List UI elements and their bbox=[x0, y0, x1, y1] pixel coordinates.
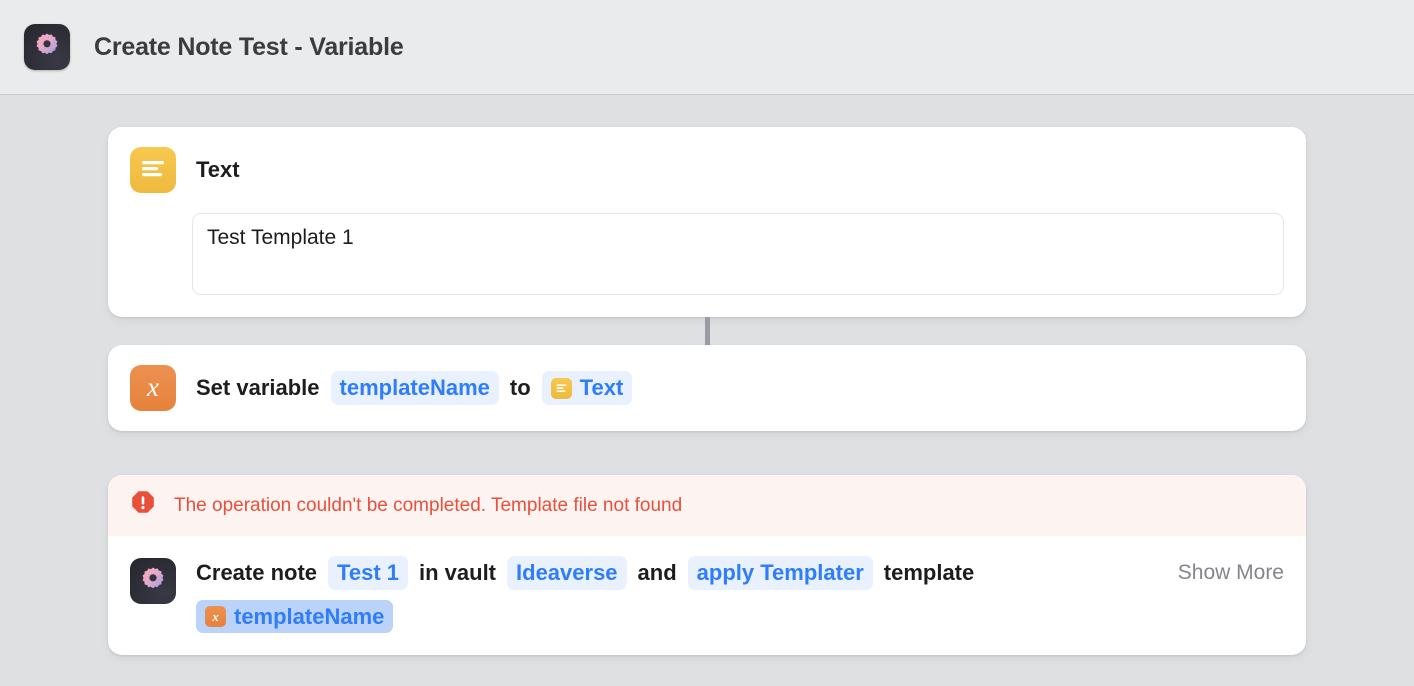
token-label: Ideaverse bbox=[516, 559, 618, 587]
window-title: Create Note Test - Variable bbox=[94, 33, 404, 62]
sentence-text: to bbox=[510, 374, 531, 402]
error-octagon-icon bbox=[130, 490, 156, 521]
variable-x-icon: x bbox=[130, 365, 176, 411]
card-spacer bbox=[0, 431, 1414, 475]
token-label: templateName bbox=[340, 374, 490, 402]
app-icon bbox=[24, 24, 70, 70]
sentence-text: and bbox=[638, 559, 677, 587]
window-titlebar: Create Note Test - Variable bbox=[0, 0, 1414, 95]
token-variable-name[interactable]: templateName bbox=[331, 371, 499, 405]
token-apply-templater[interactable]: apply Templater bbox=[688, 556, 873, 590]
token-label: templateName bbox=[234, 603, 384, 631]
set-variable-sentence: Set variable templateName to bbox=[196, 371, 1284, 405]
create-note-sentence: Create note Test 1 in vault Ideaverse an… bbox=[196, 556, 1138, 633]
token-label: Test 1 bbox=[337, 559, 399, 587]
token-label: Text bbox=[580, 374, 624, 402]
variable-glyph: x bbox=[212, 610, 219, 623]
action-header-row: x Set variable templateName to bbox=[108, 345, 1306, 431]
token-text-input[interactable]: Text bbox=[542, 371, 633, 405]
create-note-row: Create note Test 1 in vault Ideaverse an… bbox=[108, 536, 1306, 655]
gear-icon bbox=[32, 32, 62, 62]
token-template-variable[interactable]: x templateName bbox=[196, 600, 393, 634]
text-input[interactable]: Test Template 1 bbox=[192, 213, 1284, 295]
action-connector bbox=[705, 317, 710, 345]
variable-glyph: x bbox=[147, 374, 159, 403]
token-vault-name[interactable]: Ideaverse bbox=[507, 556, 627, 590]
sentence-text: Set variable bbox=[196, 374, 320, 402]
sentence-text: Create note bbox=[196, 559, 317, 587]
sentence-text: in vault bbox=[419, 559, 496, 587]
action-header-row: Text bbox=[108, 127, 1306, 213]
variable-x-icon: x bbox=[205, 606, 226, 627]
text-field-wrapper: Test Template 1 bbox=[108, 213, 1306, 317]
error-message: The operation couldn't be completed. Tem… bbox=[174, 495, 682, 517]
workflow-canvas: Text Test Template 1 x Set variable temp… bbox=[0, 95, 1414, 655]
text-lines-icon bbox=[551, 378, 572, 399]
show-more-button[interactable]: Show More bbox=[1178, 561, 1284, 585]
error-banner: The operation couldn't be completed. Tem… bbox=[108, 475, 1306, 536]
action-card-text[interactable]: Text Test Template 1 bbox=[108, 127, 1306, 317]
token-note-name[interactable]: Test 1 bbox=[328, 556, 408, 590]
action-title: Text bbox=[196, 157, 240, 183]
obsidian-gear-icon bbox=[130, 558, 176, 604]
action-card-set-variable[interactable]: x Set variable templateName to bbox=[108, 345, 1306, 431]
sentence-text: template bbox=[884, 559, 974, 587]
text-lines-icon bbox=[130, 147, 176, 193]
token-label: apply Templater bbox=[697, 559, 864, 587]
action-card-create-note[interactable]: The operation couldn't be completed. Tem… bbox=[108, 475, 1306, 655]
